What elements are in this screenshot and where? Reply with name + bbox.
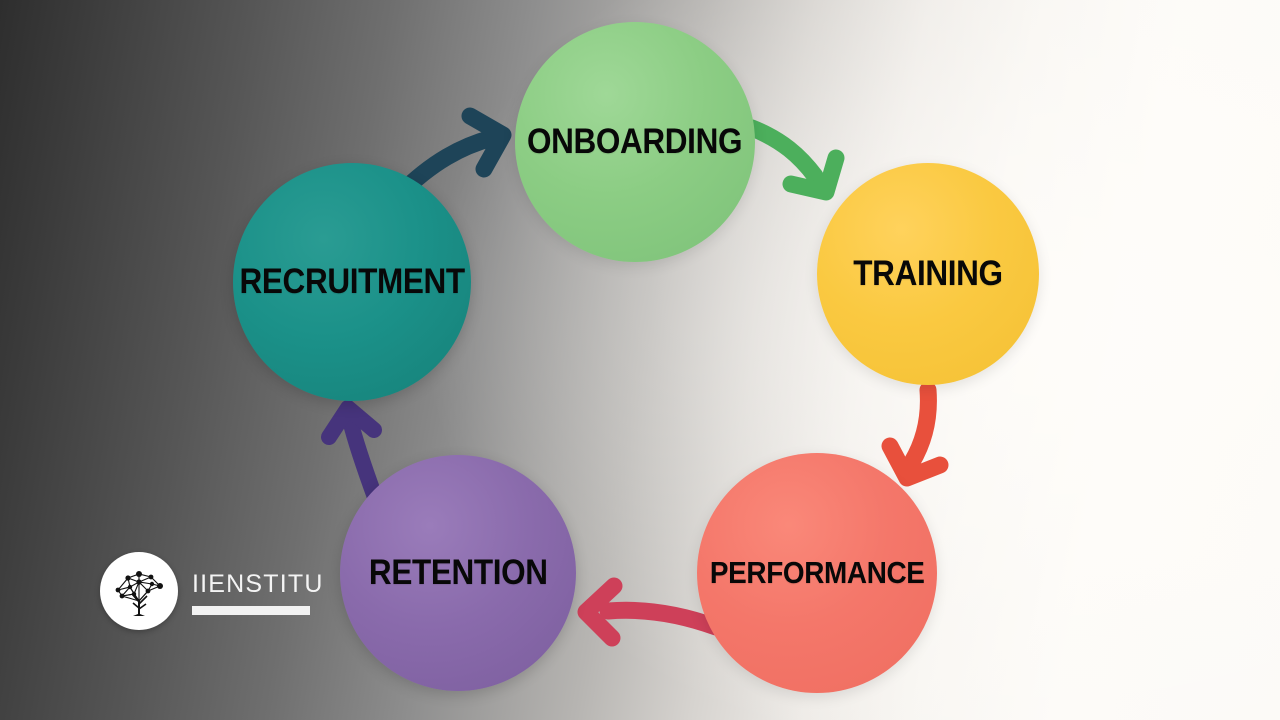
brand-underline-bar bbox=[192, 606, 310, 615]
cycle-node-label: ONBOARDING bbox=[527, 122, 742, 162]
brand-text-group: IIENSTITU bbox=[192, 567, 324, 615]
cycle-node-label: TRAINING bbox=[853, 254, 1002, 294]
cycle-node-label: RETENTION bbox=[369, 553, 548, 593]
cycle-node-performance[interactable]: PERFORMANCE bbox=[697, 453, 937, 693]
cycle-node-retention[interactable]: RETENTION bbox=[340, 455, 576, 691]
cycle-node-label: RECRUITMENT bbox=[239, 262, 464, 302]
brand-logo[interactable]: IIENSTITU bbox=[100, 552, 324, 630]
brand-name: IIENSTITU bbox=[192, 571, 324, 597]
cycle-node-onboarding[interactable]: ONBOARDING bbox=[515, 22, 755, 262]
cycle-node-training[interactable]: TRAINING bbox=[817, 163, 1039, 385]
cycle-node-label: PERFORMANCE bbox=[710, 555, 925, 591]
tree-network-icon bbox=[100, 552, 178, 630]
diagram-canvas: RECRUITMENT ONBOARDING TRAINING PERFORMA… bbox=[0, 0, 1280, 720]
cycle-node-recruitment[interactable]: RECRUITMENT bbox=[233, 163, 471, 401]
